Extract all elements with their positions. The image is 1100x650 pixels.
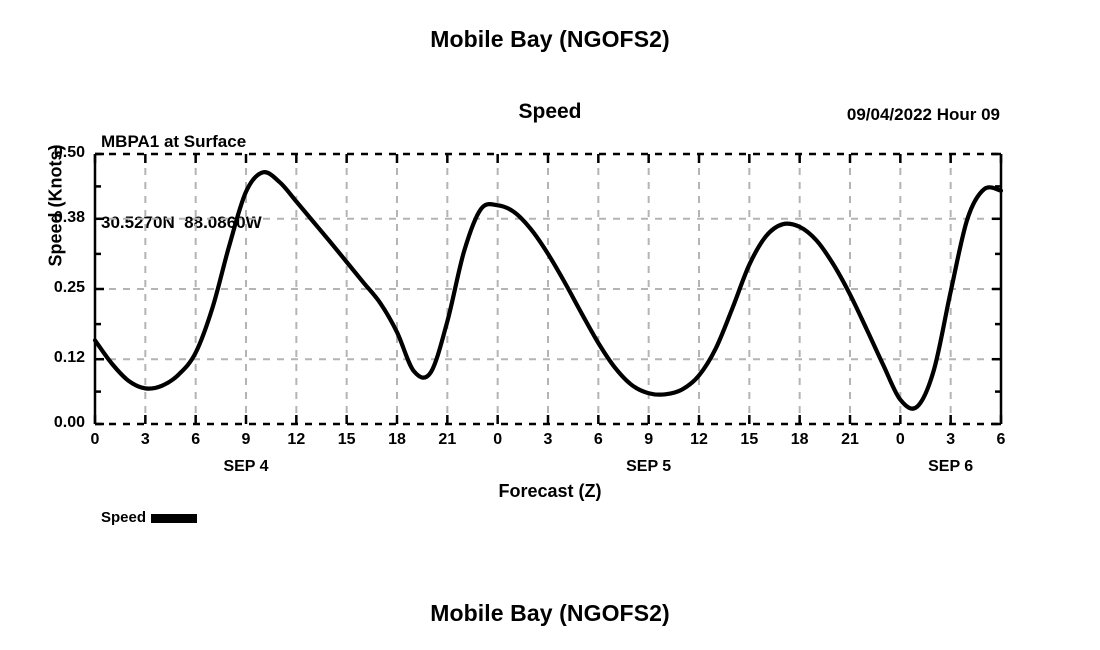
x-tick-label: 18 [377, 431, 417, 449]
x-axis-title: Forecast (Z) [0, 481, 1100, 502]
x-tick-label: 3 [528, 431, 568, 449]
x-tick-label: 9 [629, 431, 669, 449]
x-tick-label: 9 [226, 431, 266, 449]
gridlines [95, 154, 1001, 424]
day-label: SEP 4 [186, 458, 306, 476]
x-tick-label: 6 [981, 431, 1021, 449]
x-tick-label: 21 [427, 431, 467, 449]
data-series-speed [95, 172, 1001, 409]
y-tick-label: 0.12 [29, 349, 85, 367]
y-tick-label: 0.38 [29, 209, 85, 227]
chart-area: Speed (Knots) 0.000.120.250.380.50 03691… [0, 0, 1100, 650]
x-tick-label: 0 [478, 431, 518, 449]
legend-swatch-speed [151, 514, 197, 523]
y-axis-title: Speed (Knots) [46, 106, 67, 306]
x-tick-label: 0 [75, 431, 115, 449]
page-title-bottom: Mobile Bay (NGOFS2) [0, 600, 1100, 627]
x-tick-label: 15 [327, 431, 367, 449]
x-tick-label: 3 [931, 431, 971, 449]
day-label: SEP 6 [891, 458, 1011, 476]
x-tick-label: 21 [830, 431, 870, 449]
x-tick-label: 18 [780, 431, 820, 449]
x-tick-label: 0 [880, 431, 920, 449]
y-tick-label: 0.25 [29, 279, 85, 297]
x-tick-label: 3 [125, 431, 165, 449]
x-tick-label: 12 [276, 431, 316, 449]
y-tick-label: 0.50 [29, 144, 85, 162]
legend: Speed [101, 509, 197, 526]
legend-label-speed: Speed [101, 509, 146, 526]
x-tick-label: 12 [679, 431, 719, 449]
x-tick-label: 15 [729, 431, 769, 449]
x-tick-label: 6 [176, 431, 216, 449]
day-label: SEP 5 [589, 458, 709, 476]
chart-svg [0, 0, 1100, 650]
x-tick-label: 6 [578, 431, 618, 449]
y-tick-label: 0.00 [29, 414, 85, 432]
